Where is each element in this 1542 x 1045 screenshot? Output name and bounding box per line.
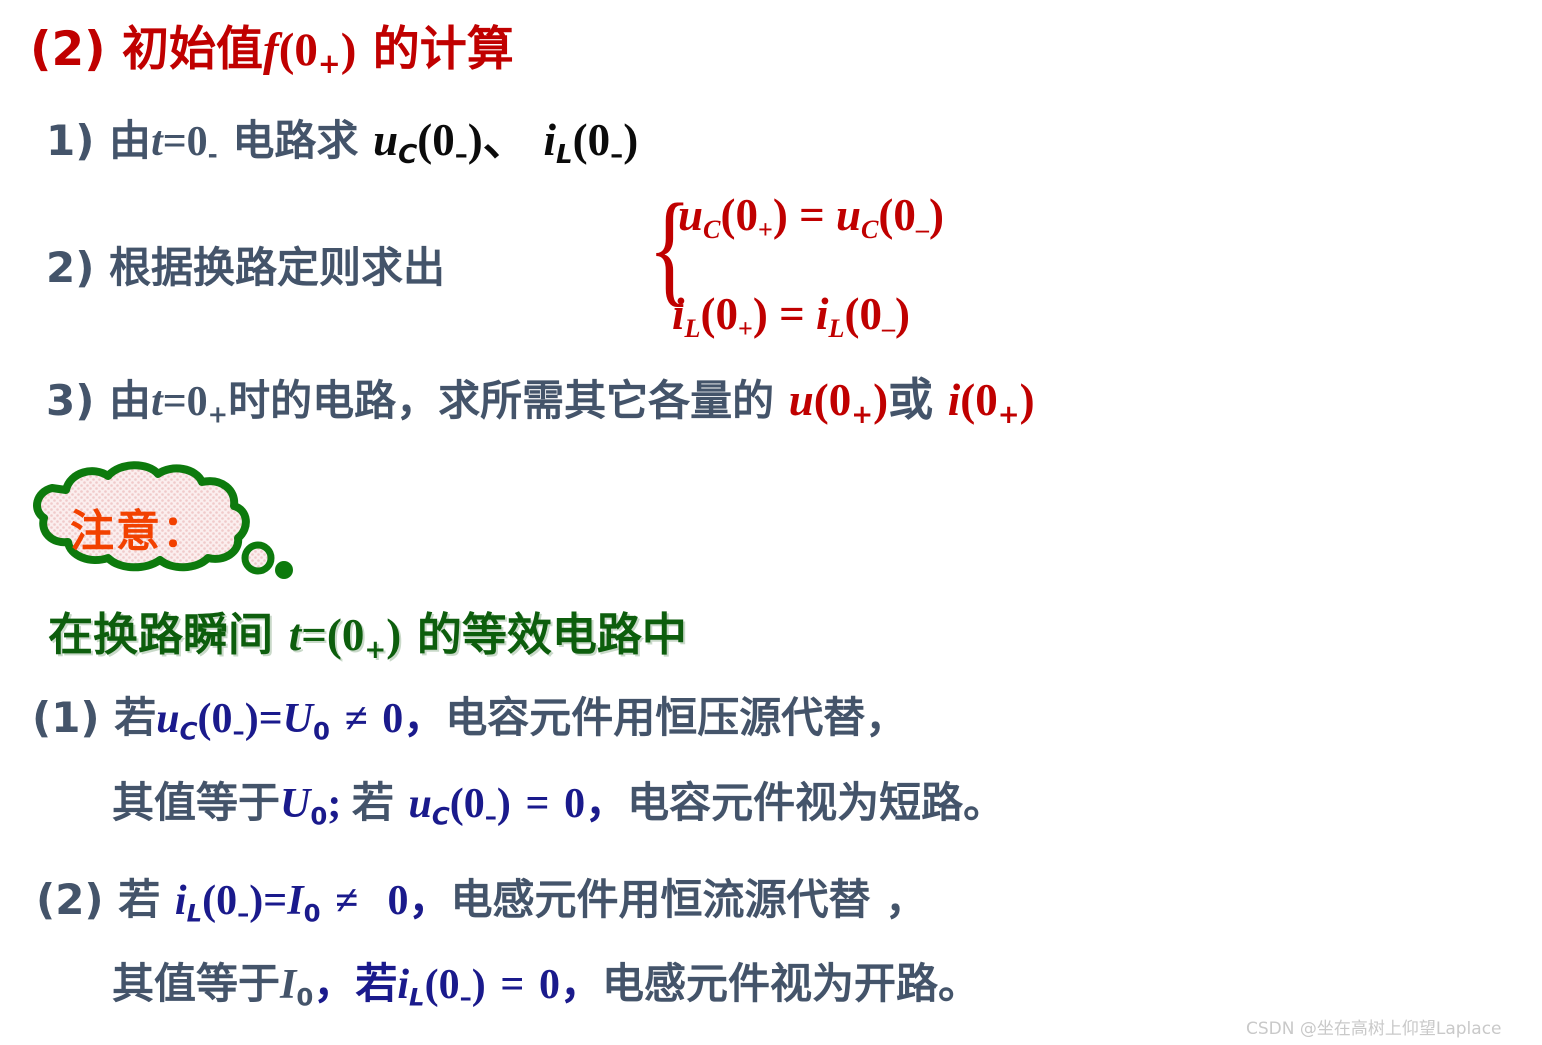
- title-text-after: 的计算: [373, 22, 514, 77]
- csdn-watermark: CSDN @坐在高树上仰望Laplace: [1246, 1014, 1502, 1039]
- step-2-number: 2): [46, 243, 94, 292]
- rule-1-l2-text-a: 其值等于: [112, 778, 280, 827]
- rule-1-l2-sym: u: [408, 781, 431, 827]
- slide-canvas: (2) 初始值f(0+) 的计算 1) 由t=0- 电路求 uC(0–)、 iL…: [0, 0, 1542, 1045]
- rule-2-l2-sub: L: [409, 982, 425, 1011]
- rule-2-l2-capital-sub: 0: [296, 982, 313, 1011]
- green-sign: +: [364, 635, 386, 665]
- rule-1-sub: C: [180, 716, 198, 745]
- eq2-lhs-subscript: L: [685, 314, 701, 343]
- tail-u-paren-open: (: [814, 375, 829, 425]
- step-3: 3) 由t=0+时的电路，求所需其它各量的 u(0+)或 i(0+): [46, 363, 1035, 430]
- step-3-var-t: t: [151, 379, 163, 425]
- rule-1-l2-zero: 0: [464, 781, 485, 827]
- rule-1-l2-value: 0: [564, 781, 585, 827]
- callout-text: 注意：: [70, 495, 208, 559]
- rule-2-capital-sub: 0: [304, 898, 321, 927]
- eq1-lhs-paren-close: ): [773, 190, 788, 240]
- step-1-math: uC(0–)、 iL(0–): [373, 113, 638, 166]
- rule-2-zero: 0: [216, 878, 237, 924]
- rule-1-if: 若: [114, 693, 156, 742]
- uc-paren-open: (: [417, 115, 432, 165]
- rule-2-relation: =: [263, 878, 287, 924]
- eq2-lhs-symbol: i: [672, 289, 685, 339]
- title-sign: +: [318, 49, 341, 80]
- rule-2-sub: L: [187, 898, 203, 927]
- step-3-text-a: 由: [109, 376, 151, 425]
- page-title: (2) 初始值f(0+) 的计算: [30, 10, 514, 80]
- rule-1-line-1: (1) 若uC(0–)=U0 ≠ 0，电容元件用恒压源代替，: [32, 684, 907, 745]
- title-prefix: (2): [30, 22, 106, 77]
- step-1-sign: -: [208, 139, 218, 168]
- rule-2-zero2: 0: [387, 878, 408, 924]
- step-2: 2) 根据换路定则求出: [46, 234, 445, 295]
- eq2-lhs-paren-open: (: [700, 289, 715, 339]
- title-paren-open: (: [279, 24, 295, 76]
- rule-1-neq: ≠: [345, 696, 368, 742]
- rule-2-paren-open: (: [202, 878, 216, 924]
- rule-2-l2-comma: ，: [560, 959, 602, 1008]
- equation-uc: uC(0+) = uC(0–): [678, 189, 944, 245]
- tail-u-paren-close: ): [873, 375, 888, 425]
- eq2-relation: =: [779, 289, 805, 339]
- green-zero: 0: [342, 610, 365, 660]
- eq2-rhs-paren-close: ): [895, 289, 910, 339]
- rule-1-l2-sign: –: [485, 801, 497, 830]
- rule-1-comma: ，: [403, 693, 445, 742]
- title-paren-close: ): [341, 24, 357, 76]
- tail-u-sign: +: [851, 400, 873, 430]
- green-text-b: 的等效电路中: [417, 608, 687, 661]
- rule-1-paren-open: (: [198, 696, 212, 742]
- step-1-text-b: 电路求: [232, 116, 358, 165]
- tail-u-symbol: u: [789, 375, 814, 425]
- step-3-eq: =: [163, 379, 187, 425]
- rule-1-l2-if: 若: [352, 778, 394, 827]
- eq2-rhs-subscript: L: [829, 314, 845, 343]
- equation-il: iL(0+) = iL(0–): [672, 288, 910, 344]
- eq1-relation: =: [799, 190, 825, 240]
- rule-1-tail: 电容元件用恒压源代替，: [445, 693, 907, 742]
- rule-2-sym: i: [175, 878, 187, 924]
- uc-zero: 0: [432, 115, 455, 165]
- tail-i-paren-open: (: [960, 375, 975, 425]
- green-close: ): [386, 610, 401, 660]
- eq2-lhs-sign: +: [738, 314, 753, 343]
- rule-2-l2-comma-1: ，: [313, 959, 355, 1008]
- rule-2-l2-paren-close: ): [472, 962, 486, 1008]
- rule-1-l2-comma: ，: [585, 778, 627, 827]
- rule-2-l2-if: 若: [355, 959, 397, 1008]
- step-1-number: 1): [46, 116, 94, 165]
- eq1-lhs-sign: +: [758, 215, 773, 244]
- eq2-rhs-zero: 0: [859, 289, 882, 339]
- il-paren-open: (: [573, 115, 588, 165]
- title-text-before: 初始值: [122, 22, 263, 77]
- rule-2-l2-zero: 0: [439, 962, 460, 1008]
- rule-2-paren-close: ): [249, 878, 263, 924]
- eq1-rhs-sign: –: [916, 215, 929, 244]
- rule-1-capital: U: [283, 696, 313, 742]
- rule-2-capital: I: [287, 878, 303, 924]
- uc-sign: –: [455, 140, 468, 170]
- title-function-symbol: f: [263, 24, 279, 76]
- rule-2-l2-paren-open: (: [425, 962, 439, 1008]
- uc-subscript: C: [398, 140, 417, 170]
- rule-1-l2-sub: C: [432, 801, 450, 830]
- eq2-lhs-zero: 0: [715, 289, 738, 339]
- rule-1-zero2: 0: [382, 696, 403, 742]
- rule-1-zero: 0: [212, 696, 233, 742]
- green-var-t: t: [289, 610, 302, 660]
- uc-symbol: u: [373, 115, 398, 165]
- step-3-text-b: 时的电路，求所需其它各量的: [228, 376, 774, 425]
- il-paren-close: ): [623, 115, 638, 165]
- rule-2-tail: 电感元件用恒流源代替 ，: [450, 875, 927, 924]
- step-2-text-a: 根据换路定则求出: [109, 243, 445, 292]
- rule-2-l2-relation: =: [500, 962, 524, 1008]
- tail-i-sign: +: [998, 400, 1020, 430]
- step-1: 1) 由t=0- 电路求 uC(0–)、 iL(0–): [46, 103, 638, 170]
- il-sign: –: [610, 140, 623, 170]
- rule-1-l2-semicolon: ;: [327, 781, 352, 827]
- rule-1-line-2: 其值等于U0; 若 uC(0–) = 0，电容元件视为短路。: [112, 769, 1005, 830]
- rule-1-sign: –: [233, 716, 245, 745]
- tail-i-zero: 0: [975, 375, 998, 425]
- rule-1-l2-tail: 电容元件视为短路。: [627, 778, 1005, 827]
- rule-1-l2-capital: U: [280, 781, 310, 827]
- rule-2-l2-value: 0: [539, 962, 560, 1008]
- rule-2-if: 若: [118, 875, 160, 924]
- step-1-text-a: 由: [109, 116, 151, 165]
- eq2-rhs-paren-open: (: [844, 289, 859, 339]
- step-3-sign: +: [208, 399, 228, 428]
- eq2-lhs-paren-close: ): [753, 289, 768, 339]
- eq1-rhs-paren-open: (: [878, 190, 893, 240]
- rule-2-l2-text-a: 其值等于: [112, 959, 280, 1008]
- eq1-lhs-zero: 0: [735, 190, 758, 240]
- rule-2-l2-sign: –: [460, 982, 472, 1011]
- rule-1-l2-relation: =: [526, 781, 550, 827]
- step-3-zero: 0: [187, 379, 208, 425]
- eq1-rhs-zero: 0: [893, 190, 916, 240]
- eq2-rhs-symbol: i: [816, 289, 829, 339]
- eq1-lhs-subscript: C: [703, 215, 720, 244]
- tail-u-zero: 0: [829, 375, 852, 425]
- il-subscript: L: [556, 140, 573, 170]
- rule-2-line-1: (2) 若 iL(0–)=I0 ≠ 0，电感元件用恒流源代替 ，: [36, 866, 927, 927]
- eq1-rhs-paren-close: ): [929, 190, 944, 240]
- math-separator: 、: [483, 113, 528, 166]
- rule-1-relation: =: [259, 696, 283, 742]
- il-symbol: i: [543, 115, 556, 165]
- eq1-lhs-symbol: u: [678, 190, 703, 240]
- eq1-lhs-paren-open: (: [720, 190, 735, 240]
- rule-1-number: (1): [32, 693, 100, 742]
- rule-1-l2-paren-open: (: [450, 781, 464, 827]
- rule-1-capital-sub: 0: [313, 716, 330, 745]
- rule-2-l2-sym: i: [397, 962, 409, 1008]
- rule-1-l2-paren-close: ): [497, 781, 511, 827]
- uc-paren-close: ): [468, 115, 483, 165]
- step-1-var-t: t: [151, 119, 163, 165]
- rule-1-sym: u: [156, 696, 179, 742]
- title-zero: 0: [294, 24, 318, 76]
- step-1-zero: 0: [187, 119, 208, 165]
- rule-2-l2-tail: 电感元件视为开路。: [602, 959, 980, 1008]
- section-heading: 在换路瞬间 t=(0+) 的等效电路中: [48, 598, 687, 665]
- eq2-rhs-sign: –: [882, 314, 895, 343]
- rule-1-l2-capital-sub: 0: [310, 801, 327, 830]
- tail-i-symbol: i: [948, 375, 961, 425]
- rule-1-paren-close: ): [245, 696, 259, 742]
- green-eq: =(: [301, 610, 342, 660]
- eq1-rhs-symbol: u: [836, 190, 861, 240]
- rule-2-comma: ，: [408, 875, 450, 924]
- step-3-or: 或: [888, 373, 933, 426]
- step-3-number: 3): [46, 376, 94, 425]
- step-3-tail-u: u(0+): [789, 373, 888, 426]
- green-text-a: 在换路瞬间: [48, 608, 273, 661]
- rule-2-line-2: 其值等于I0，若iL(0–) = 0，电感元件视为开路。: [112, 950, 980, 1011]
- eq1-rhs-subscript: C: [861, 215, 878, 244]
- rule-2-number: (2): [36, 875, 104, 924]
- rule-2-l2-capital: I: [280, 962, 296, 1008]
- il-zero: 0: [588, 115, 611, 165]
- step-3-tail-i: i(0+): [948, 373, 1035, 426]
- tail-i-paren-close: ): [1020, 375, 1035, 425]
- rule-2-sign: –: [237, 898, 249, 927]
- step-1-eq: =: [163, 119, 187, 165]
- rule-2-neq: ≠: [335, 878, 358, 924]
